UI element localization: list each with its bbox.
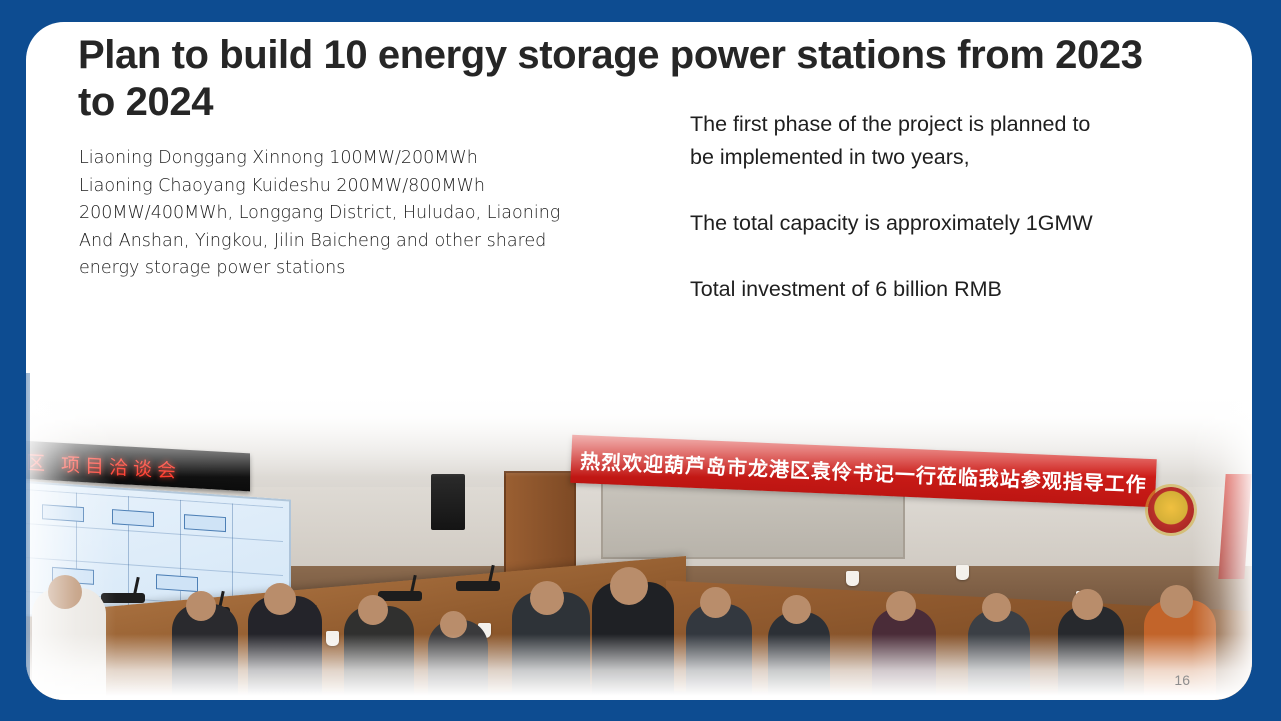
national-emblem-icon: [1148, 487, 1194, 533]
person-head: [264, 583, 296, 615]
slide-root: Plan to build 10 energy storage power st…: [0, 0, 1281, 721]
person-head: [358, 595, 388, 625]
tea-cup: [846, 571, 859, 586]
tea-cup: [956, 565, 969, 580]
person-head: [886, 591, 916, 621]
photo-fade-top: [26, 395, 1252, 477]
right-paragraph-1: The first phase of the project is planne…: [690, 108, 1120, 174]
mimic-node: [184, 514, 226, 532]
mimic-node: [112, 509, 154, 527]
table-microphone: [456, 581, 500, 591]
photo-content: 区 项目洽谈会 热烈欢迎葫芦岛市龙港区袁伶书记一行莅临我站参观指导工作: [26, 395, 1252, 700]
slide-card: Plan to build 10 energy storage power st…: [26, 22, 1252, 700]
left-text-block: Liaoning Donggang Xinnong 100MW/200MWh L…: [79, 145, 579, 283]
mimic-node: [156, 574, 198, 592]
person-head: [982, 593, 1011, 622]
right-paragraph-2: The total capacity is approximately 1GMW: [690, 207, 1120, 240]
photo-fade-right: [1192, 395, 1252, 700]
conference-room-photo: 区 项目洽谈会 热烈欢迎葫芦岛市龙港区袁伶书记一行莅临我站参观指导工作: [26, 395, 1252, 700]
wall-speaker: [431, 474, 465, 530]
person-head: [610, 567, 648, 605]
photo-left-bleed: [0, 373, 30, 678]
right-paragraph-3: Total investment of 6 billion RMB: [690, 273, 1120, 306]
person-head: [1160, 585, 1193, 618]
person-head: [530, 581, 564, 615]
person-head: [186, 591, 216, 621]
right-text-block: The first phase of the project is planne…: [690, 108, 1120, 306]
slide-number: 16: [1174, 672, 1190, 688]
person-head: [1072, 589, 1103, 620]
photo-fade-bottom: [26, 634, 1252, 700]
photo-fade-left: [26, 395, 116, 700]
person-head: [782, 595, 811, 624]
person-head: [700, 587, 731, 618]
